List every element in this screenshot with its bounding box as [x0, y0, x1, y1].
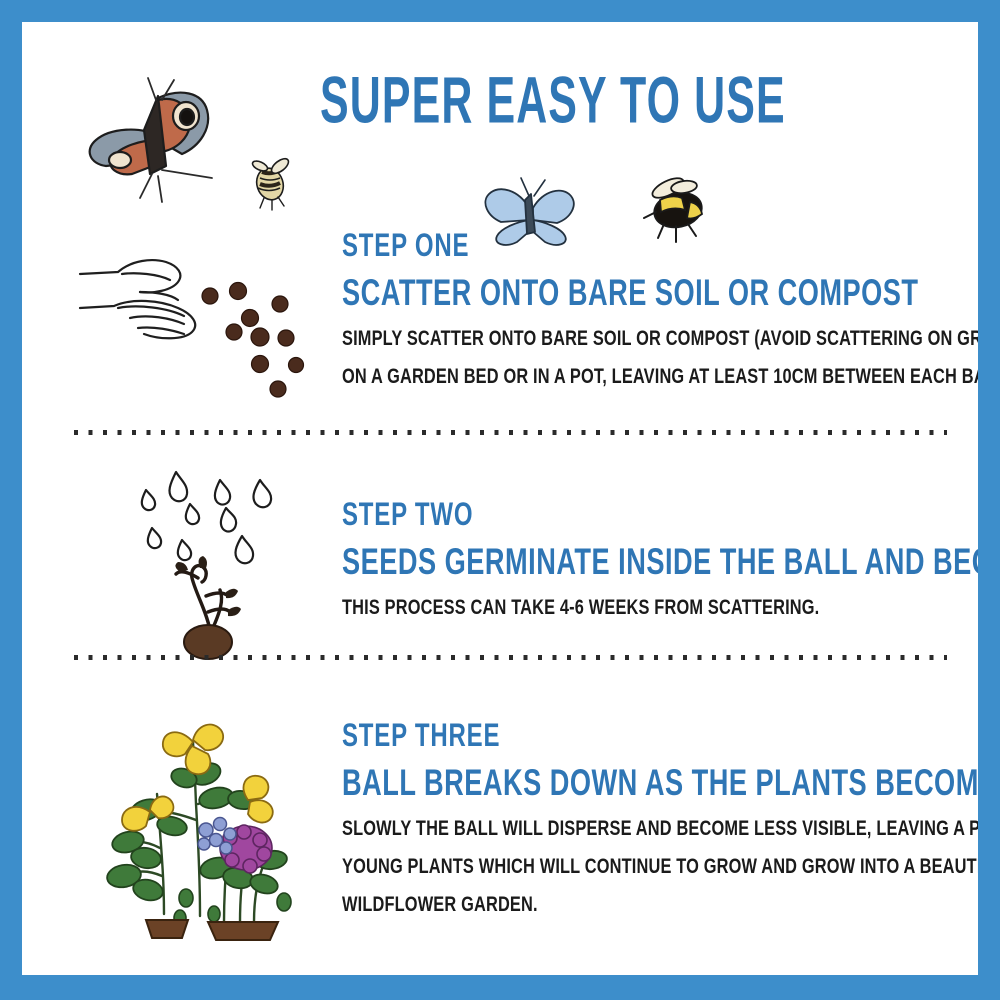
step-two-label: STEP TWO [342, 499, 473, 531]
step-one-heading: SCATTER ONTO BARE SOIL OR COMPOST [342, 274, 919, 311]
step-three-body: SLOWLY THE BALL WILL DISPERSE AND BECOME… [342, 818, 978, 932]
step-two-heading: SEEDS GERMINATE INSIDE THE BALL AND BEGI… [342, 543, 978, 580]
step-two-body-line: THIS PROCESS CAN TAKE 4-6 WEEKS FROM SCA… [342, 597, 819, 619]
rain-and-sprout-illustration [120, 462, 300, 662]
wildflowers-illustration [88, 708, 328, 948]
step-three-body-line: YOUNG PLANTS WHICH WILL CONTINUE TO GROW… [342, 856, 978, 878]
blue-butterfly-icon [477, 174, 585, 250]
step-one-label: STEP ONE [342, 230, 469, 262]
poster-frame: SUPER EASY TO USE [0, 0, 1000, 1000]
small-bee-icon [240, 150, 304, 212]
divider-one [74, 430, 947, 435]
divider-two [74, 655, 947, 660]
poster-canvas: SUPER EASY TO USE [22, 22, 978, 975]
bumblebee-icon [634, 174, 722, 246]
step-one-body-line: ON A GARDEN BED OR IN A POT, LEAVING AT … [342, 366, 978, 388]
step-three-body-line: SLOWLY THE BALL WILL DISPERSE AND BECOME… [342, 818, 978, 840]
step-one-body: SIMPLY SCATTER ONTO BARE SOIL OR COMPOST… [342, 328, 978, 404]
peacock-butterfly-icon [62, 70, 242, 220]
step-three-body-line: WILDFLOWER GARDEN. [342, 894, 978, 916]
step-three-label: STEP THREE [342, 720, 500, 752]
step-two-body: THIS PROCESS CAN TAKE 4-6 WEEKS FROM SCA… [342, 597, 819, 635]
step-three-heading: BALL BREAKS DOWN AS THE PLANTS BECOME ES… [342, 764, 978, 801]
hand-scattering-seeds-illustration [74, 252, 324, 412]
page-title: SUPER EASY TO USE [320, 68, 786, 134]
step-one-body-line: SIMPLY SCATTER ONTO BARE SOIL OR COMPOST… [342, 328, 978, 350]
